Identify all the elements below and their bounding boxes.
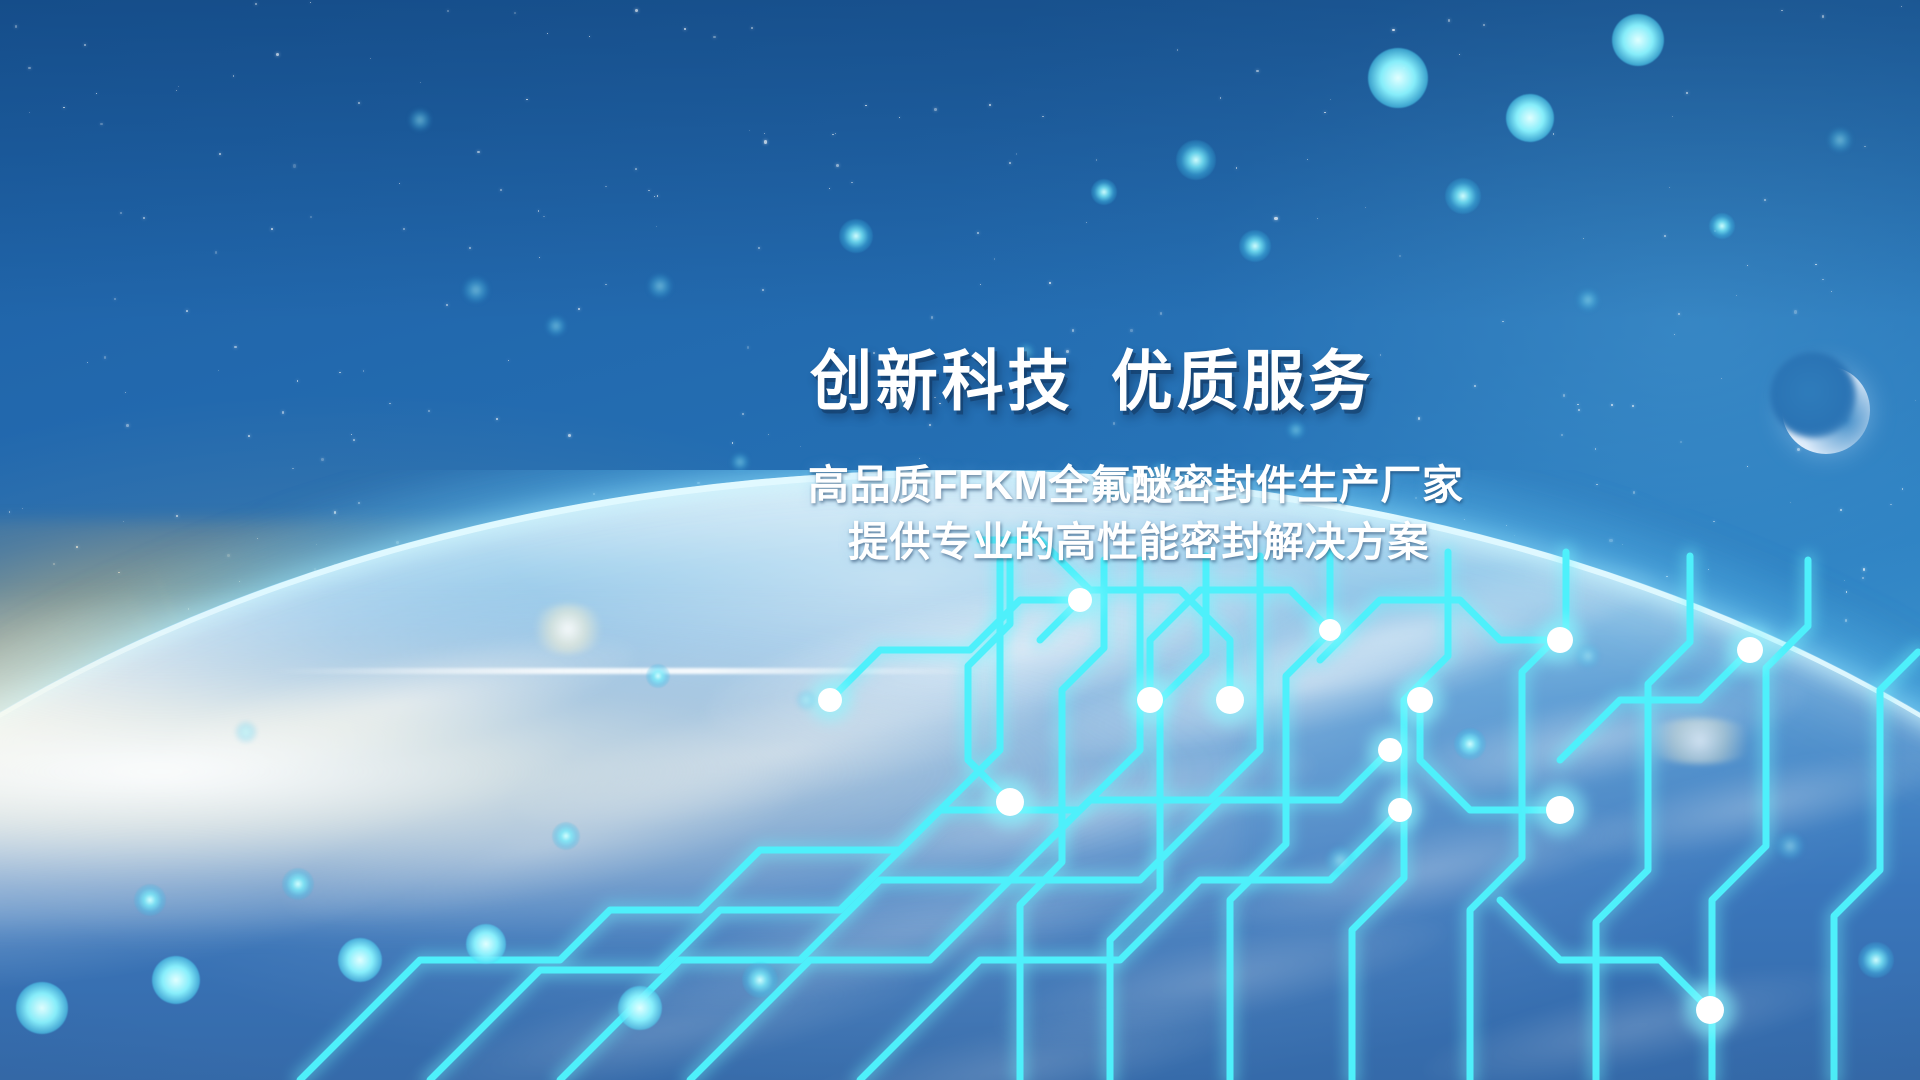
star [276,53,279,56]
star [589,36,590,37]
bokeh-orb [134,884,166,916]
star [865,105,867,107]
star [469,247,471,249]
star [1664,235,1666,237]
star [514,12,516,14]
star [1577,404,1579,406]
star [989,104,991,106]
bokeh-orb [742,962,778,998]
star [125,392,126,393]
star [1160,312,1163,315]
star [1915,400,1916,401]
hero-banner: 创新科技优质服务 高品质FFKM全氟醚密封件生产厂家 提供专业的高性能密封解决方… [0,0,1920,1080]
star [994,258,995,259]
bokeh-orb [409,109,431,131]
star [1561,434,1564,437]
star [255,3,257,5]
star [1130,329,1132,331]
bokeh-orb [282,868,314,900]
star [768,434,769,435]
subtitle-line-1: 高品质FFKM全氟醚密封件生产厂家 [808,465,1463,506]
star [742,413,744,415]
bokeh-orb [646,664,670,688]
star [1747,265,1748,266]
bokeh-orb [546,316,566,336]
star [178,86,179,87]
bokeh-orb [1176,140,1216,180]
star [1502,321,1503,322]
star [977,232,979,234]
star [1317,218,1319,220]
star [762,289,764,291]
star [1096,159,1098,161]
star [919,458,920,459]
star [143,217,145,219]
star [271,228,273,230]
bokeh-orb [463,277,489,303]
star [829,188,830,189]
star [1086,222,1087,223]
bokeh-orb [618,986,662,1030]
bokeh-orb [1091,179,1117,205]
star [28,67,30,69]
star [764,133,765,134]
star [980,284,982,286]
star [500,189,502,191]
star [1721,378,1722,379]
star [1483,24,1485,26]
bokeh-orb [1828,128,1852,152]
star [835,133,836,134]
bokeh-orb [648,274,672,298]
bokeh-orb [1239,230,1271,262]
star [1042,116,1043,117]
star [389,403,391,405]
star [176,90,177,91]
bokeh-orb [466,924,506,964]
star [403,228,405,230]
star [1324,112,1326,114]
star [1583,238,1584,239]
bokeh-orb [1368,48,1428,108]
star [851,182,853,184]
star [1669,187,1670,188]
star [126,424,129,427]
star [1831,291,1832,292]
bokeh-orb [152,956,200,1004]
star [1864,146,1866,148]
star [1611,404,1613,406]
star [764,140,768,144]
star [539,257,540,258]
star [477,151,479,153]
star [1815,264,1817,266]
star [931,316,934,319]
bokeh-orb [731,453,749,471]
star [293,164,296,167]
star [836,164,839,167]
star [96,93,97,94]
lens-flare-spot [530,604,606,654]
star [648,190,650,192]
star [605,186,607,188]
star [310,216,312,218]
star [654,196,655,197]
star [186,310,188,312]
star [1736,295,1737,296]
star [1474,385,1476,387]
bokeh-orb [1576,644,1600,668]
star [526,99,527,100]
star [656,226,657,227]
star [447,10,449,12]
star [934,108,937,111]
star [63,107,65,109]
star [578,308,580,310]
bokeh-orb [1506,94,1554,142]
star [1392,29,1394,31]
star [496,418,497,419]
star [1678,313,1680,315]
star [1822,279,1824,281]
star [1686,92,1688,94]
bokeh-orb [1454,728,1486,760]
star [1901,6,1902,7]
star [1049,282,1050,283]
star [370,58,371,59]
star [1563,394,1566,397]
star [1672,116,1673,117]
star [751,27,753,29]
star [508,360,509,361]
star [104,356,106,358]
star [1016,153,1018,155]
star [605,284,607,286]
star [215,251,217,253]
star [547,33,548,34]
star [1009,162,1011,164]
star [282,411,285,414]
star [543,216,545,218]
star [1553,133,1555,135]
lens-flare-spot-small [1640,718,1760,764]
star [84,44,86,46]
bokeh-orb [796,690,816,710]
star [1680,441,1682,443]
star [1747,466,1748,467]
star [1459,54,1460,55]
star [339,372,340,373]
bokeh-orb [1858,942,1894,978]
headline-part-2: 优质服务 [1111,344,1374,418]
star [1330,99,1331,100]
lens-flare-streak [270,668,990,674]
star [1632,405,1634,407]
star [1072,329,1074,331]
star [100,123,102,125]
bokeh-orb [1612,14,1664,66]
star [1781,10,1783,12]
star [1764,199,1766,201]
star [749,130,750,131]
star [1220,97,1222,99]
bokeh-orb [1709,213,1735,239]
star [758,247,760,249]
bokeh-orb [1577,289,1599,311]
star [1418,417,1420,419]
star [1794,310,1797,313]
star [428,410,429,411]
star [358,102,360,104]
bokeh-orb [839,219,873,253]
subtitle-line-2: 提供专业的高性能密封解决方案 [848,522,1429,563]
star [234,346,236,348]
bokeh-orb [1776,832,1804,860]
star [233,75,235,77]
star [1822,15,1824,17]
star [399,183,400,184]
star [29,112,30,113]
horizon-glow [0,600,1240,930]
star [1448,19,1451,22]
star [114,298,116,300]
star [899,117,900,118]
star [1399,255,1401,257]
star [1236,167,1238,169]
star [684,28,686,30]
headline-part-1: 创新科技 [810,344,1073,418]
star [747,346,749,348]
star [310,2,311,3]
star [800,446,801,447]
bokeh-orb [235,721,257,743]
star [732,442,734,444]
star [1177,49,1179,51]
star [538,210,540,212]
star [635,9,638,12]
star [635,168,637,170]
star [1365,207,1366,208]
star [1307,159,1308,160]
star [1113,422,1115,424]
star [657,195,659,197]
star [1797,448,1800,451]
star [446,304,448,306]
star [87,362,88,363]
bokeh-orb [338,938,382,982]
star [120,212,122,214]
star [1256,70,1258,72]
bokeh-orb [1287,421,1305,439]
star [15,25,17,27]
bokeh-orb [552,822,580,850]
star [713,36,715,38]
bokeh-orb [1445,178,1481,214]
star [1274,217,1278,221]
star [297,380,299,382]
bokeh-orb [1326,846,1354,874]
star [832,134,834,136]
star [420,82,421,83]
star [1595,448,1597,450]
bokeh-orb [16,982,68,1034]
star [219,153,221,155]
star [1380,354,1382,356]
crescent-moon-shadow [1770,352,1856,438]
star [1674,334,1675,335]
star [929,424,931,426]
star [363,370,364,371]
star [218,370,219,371]
page-title: 创新科技优质服务 [810,348,1374,414]
star [1578,409,1580,411]
